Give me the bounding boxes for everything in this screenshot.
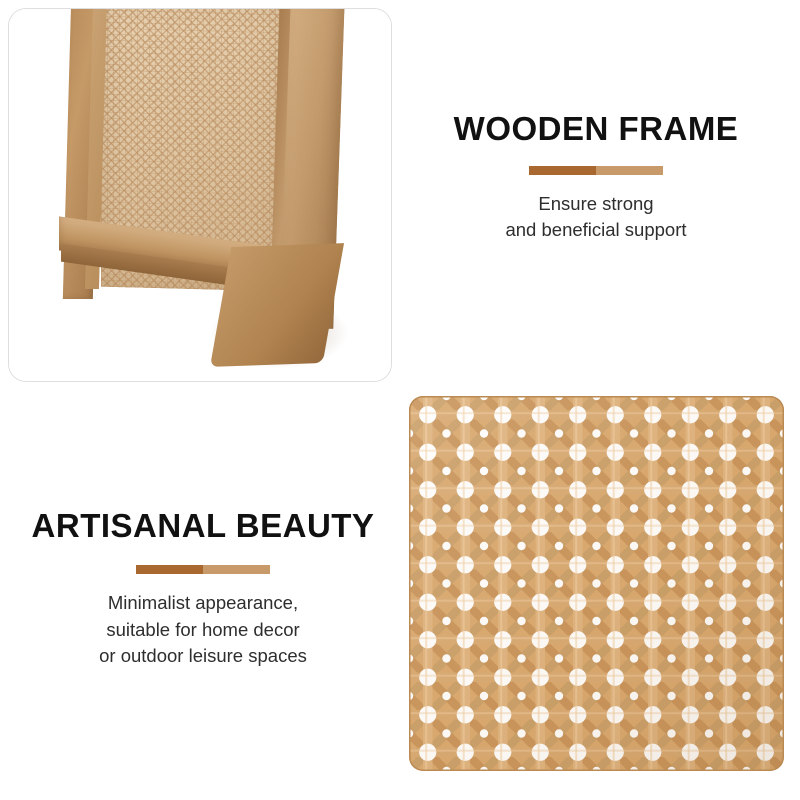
title-line: ARTISANAL <box>32 507 227 544</box>
feature-wooden-frame: WOODEN FRAME Ensure strong and beneficia… <box>396 110 796 243</box>
description-line: and beneficial support <box>396 217 796 243</box>
divider-wooden-frame <box>529 166 663 175</box>
divider-segment-right <box>203 565 270 574</box>
description-line: suitable for home decor <box>8 617 398 643</box>
wooden-frame-photo <box>9 9 391 381</box>
feature-description-artisanal-beauty: Minimalist appearance, suitable for home… <box>8 590 398 669</box>
divider-segment-right <box>596 166 663 175</box>
feature-title-artisanal-beauty: ARTISANAL BEAUTY <box>8 505 398 547</box>
rattan-weave-graphic <box>409 396 784 771</box>
divider-segment-left <box>136 565 203 574</box>
feature-title-wooden-frame: WOODEN FRAME <box>396 110 796 148</box>
title-line: BEAUTY <box>236 507 375 544</box>
wooden-frame-photo-panel <box>8 8 392 382</box>
infographic-canvas: WOODEN FRAME Ensure strong and beneficia… <box>0 0 800 800</box>
rattan-weave-photo-panel <box>401 388 792 779</box>
feature-description-wooden-frame: Ensure strong and beneficial support <box>396 191 796 244</box>
divider-segment-left <box>529 166 596 175</box>
description-line: Ensure strong <box>396 191 796 217</box>
rattan-weave-photo <box>409 396 784 771</box>
feature-artisanal-beauty: ARTISANAL BEAUTY Minimalist appearance, … <box>8 505 398 669</box>
description-line: or outdoor leisure spaces <box>8 643 398 669</box>
description-line: Minimalist appearance, <box>8 590 398 616</box>
divider-artisanal-beauty <box>136 565 270 574</box>
frame-foot <box>210 243 344 367</box>
